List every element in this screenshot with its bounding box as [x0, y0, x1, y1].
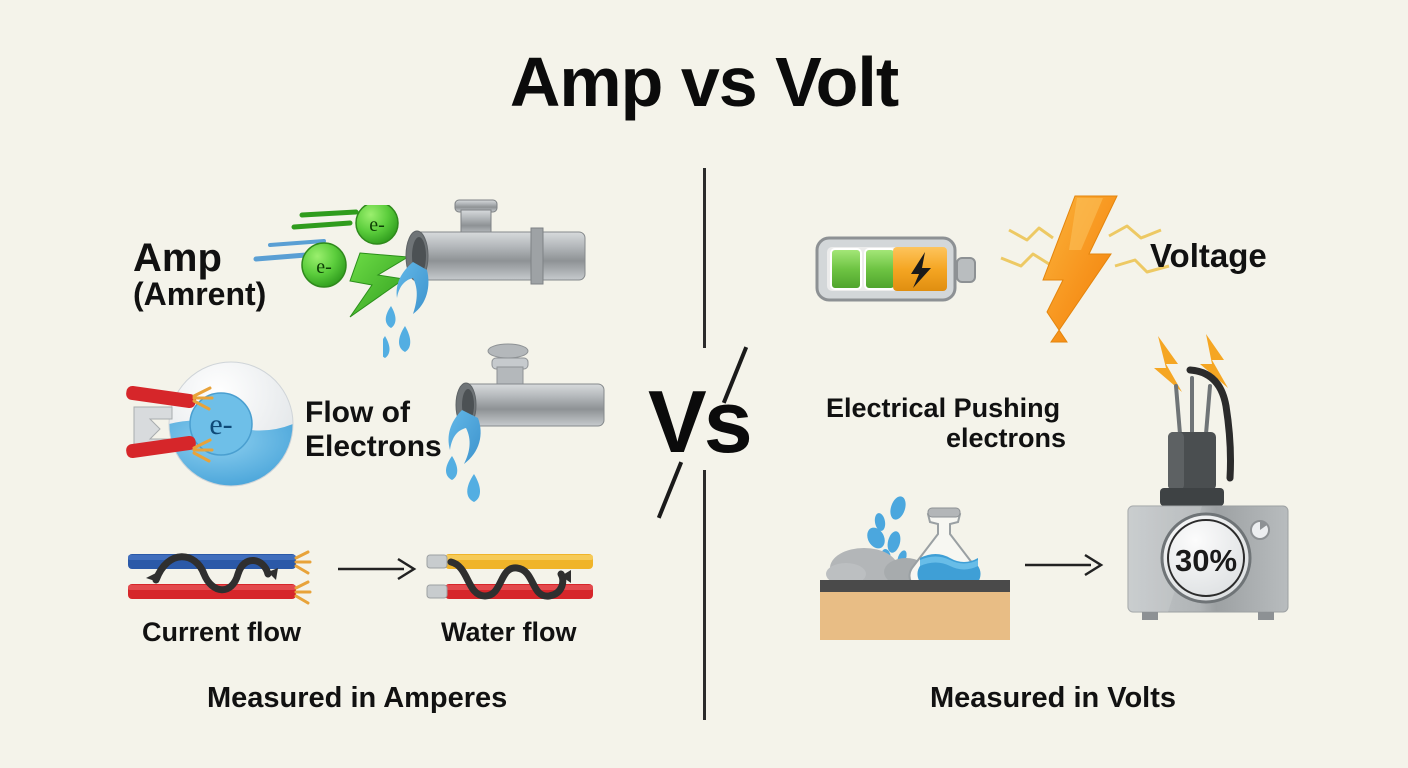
electron-circle: e-: [302, 243, 346, 287]
divider-line-top: [703, 168, 706, 348]
voltage-heading: Voltage: [1150, 238, 1267, 275]
electrical-pushing-label: Electrical Pushing electrons: [826, 393, 1066, 453]
current-flow-caption: Current flow: [142, 617, 301, 647]
measured-in-volts-footer: Measured in Volts: [930, 682, 1176, 714]
svg-text:e-: e-: [316, 256, 332, 278]
infographic-canvas: Amp vs Volt Vs: [0, 0, 1408, 768]
pipe-faucet-middle-icon: [440, 352, 610, 517]
transition-arrow-left: [338, 556, 418, 587]
current-wires-icon: [128, 540, 318, 613]
svg-text:e-: e-: [209, 408, 232, 441]
water-flow-caption: Water flow: [441, 617, 577, 647]
vs-label: Vs: [648, 378, 750, 466]
appliance-gauge-icon: 30%: [1120, 330, 1310, 625]
amp-heading: Amp: [133, 236, 222, 281]
page-title: Amp vs Volt: [0, 42, 1408, 122]
rocks-and-flask-icon: [820, 492, 1010, 647]
amp-subheading: (Amrent): [133, 277, 266, 313]
battery-icon: [813, 232, 983, 313]
measured-in-amperes-footer: Measured in Amperes: [207, 682, 507, 714]
gauge-value: 30%: [1175, 543, 1237, 578]
divider-line-bottom: [703, 470, 706, 720]
pipe-faucet-top-icon: [383, 186, 603, 366]
electrical-pushing-line2: electrons: [826, 423, 1066, 453]
electrical-pushing-line1: Electrical Pushing: [826, 393, 1060, 423]
flask-icon: [909, 508, 980, 590]
water-flow-wires-icon: [425, 540, 595, 613]
electron-sphere-icon: e-: [126, 352, 306, 507]
transition-arrow-right: [1025, 552, 1105, 583]
